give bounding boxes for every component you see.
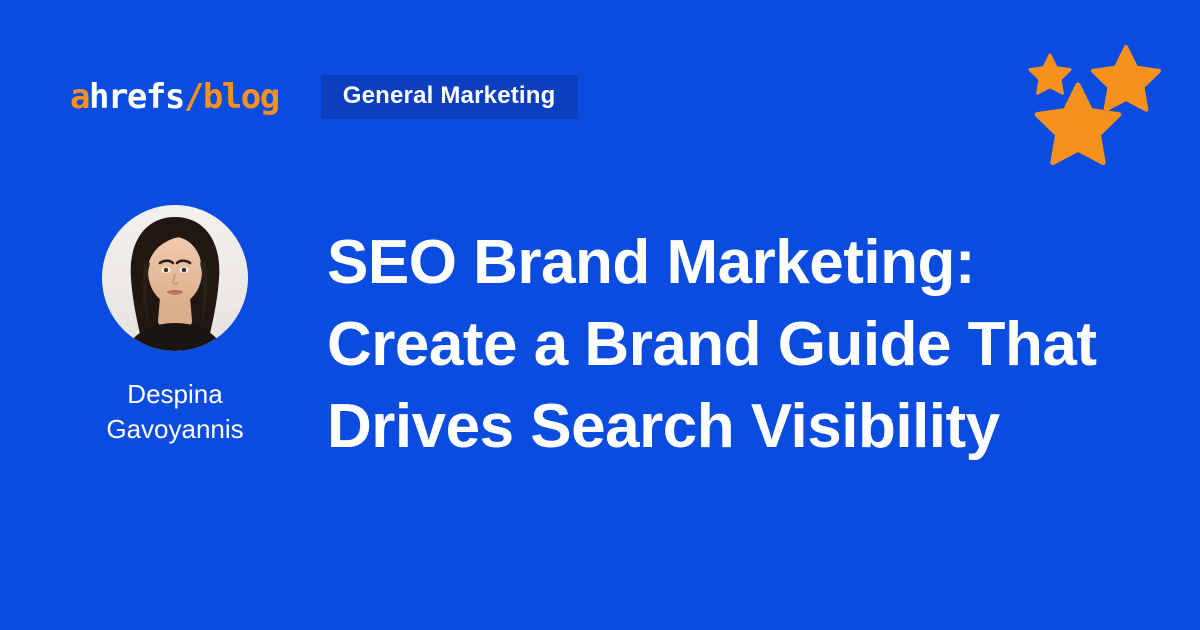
card-header: ahrefs/blog General Marketing <box>70 74 578 120</box>
logo-text-hrefs: hrefs <box>89 80 184 114</box>
star-large-icon <box>1037 85 1119 163</box>
star-medium-icon <box>1093 47 1159 110</box>
ahrefs-blog-logo[interactable]: ahrefs/blog <box>70 80 279 114</box>
social-share-card: ahrefs/blog General Marketing <box>0 0 1200 630</box>
avatar-photo <box>102 205 248 351</box>
logo-text-blog: blog <box>203 80 279 114</box>
avatar <box>102 205 248 351</box>
page-title: SEO Brand Marketing: Create a Brand Guid… <box>327 222 1117 468</box>
star-small-icon <box>1030 55 1070 93</box>
category-badge[interactable]: General Marketing <box>321 75 578 119</box>
author-name: Despina Gavoyannis <box>85 377 265 447</box>
stars-decoration <box>1008 28 1188 168</box>
author-block: Despina Gavoyannis <box>38 205 312 447</box>
logo-slash: / <box>184 80 203 114</box>
logo-letter-a: a <box>70 80 89 114</box>
